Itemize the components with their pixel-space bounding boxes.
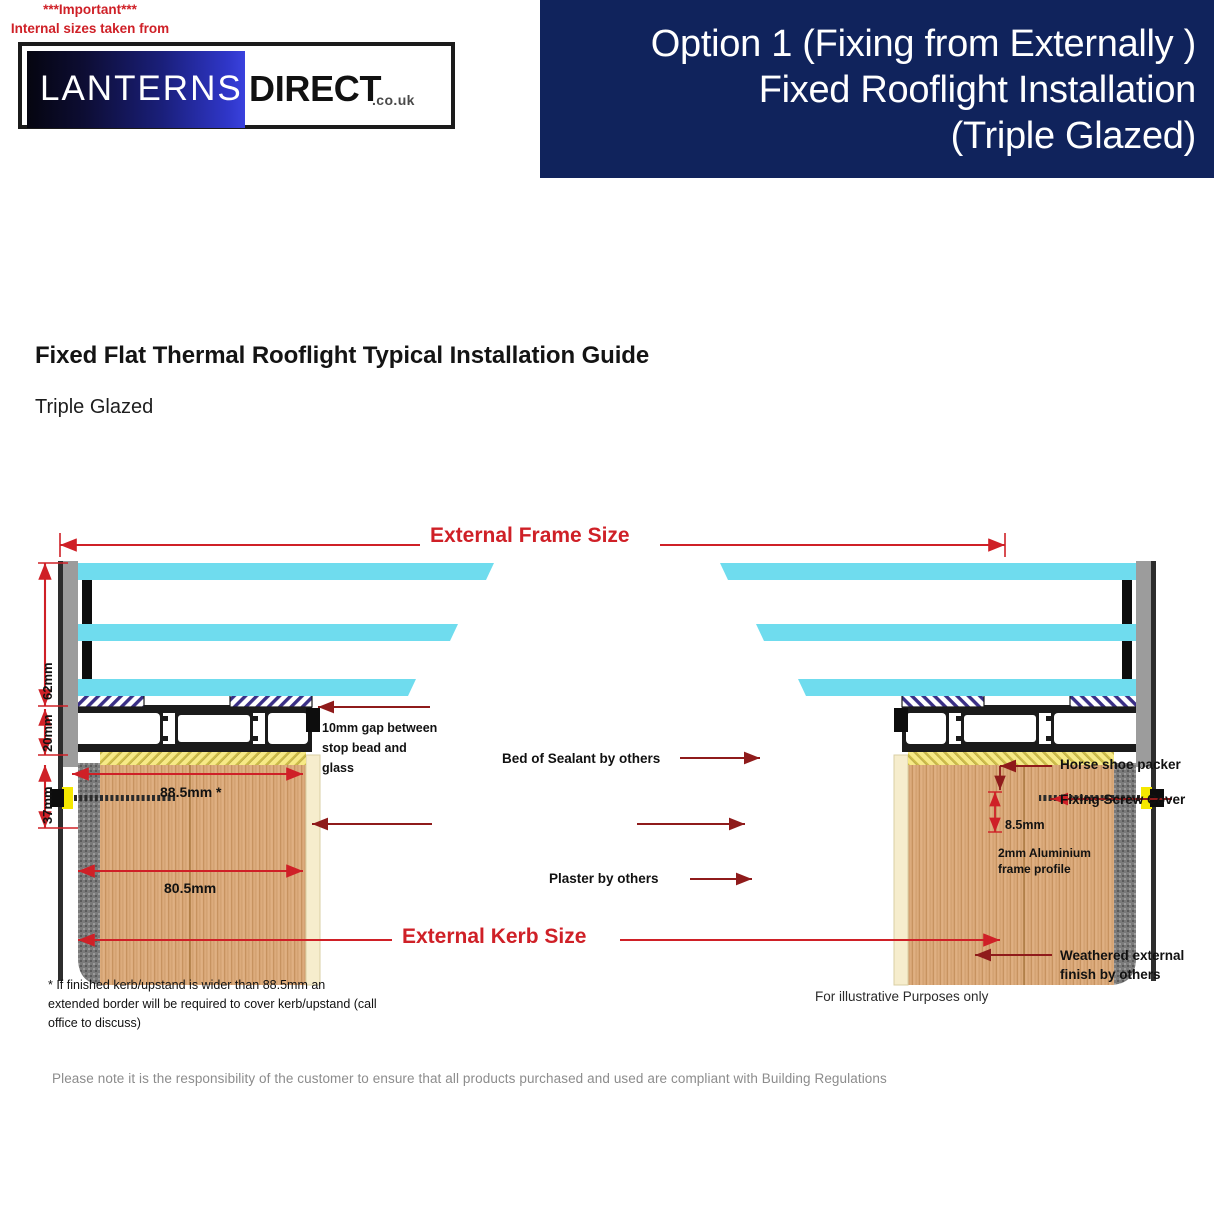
stop-bead-right bbox=[894, 708, 908, 732]
banner-lines: Option 1 (Fixing from Externally ) Fixed… bbox=[540, 21, 1214, 159]
label-fixing-screw-cover: Fixing Screw Cover bbox=[1060, 792, 1185, 807]
aluminium-frame-left bbox=[62, 705, 312, 752]
illustrative-note: For illustrative Purposes only bbox=[815, 989, 988, 1004]
weathered-finish-left bbox=[78, 763, 140, 985]
glass-pane-inner-left bbox=[78, 679, 416, 696]
label-plaster-by-others: Plaster by others bbox=[549, 871, 659, 886]
frame-head-right bbox=[900, 572, 1132, 579]
label-8-5mm: 8.5mm bbox=[1005, 818, 1045, 832]
label-37mm: 37mm bbox=[40, 786, 55, 824]
building-regulations-disclaimer: Please note it is the responsibility of … bbox=[52, 1071, 887, 1086]
frame-outer-skin-right bbox=[1136, 561, 1152, 767]
logo-inner: LANTERNS DIRECT .co.uk bbox=[27, 51, 454, 128]
dimension-lines bbox=[38, 533, 1005, 940]
frame-upright-right bbox=[1122, 572, 1132, 695]
glass-pane-outer-right bbox=[720, 563, 1136, 580]
banner-line-2: Fixed Rooflight Installation bbox=[540, 67, 1214, 113]
label-external-kerb-size: External Kerb Size bbox=[402, 925, 586, 949]
label-10mm-gap: 10mm gap between stop bead and glass bbox=[322, 718, 442, 778]
label-aluminium-frame-profile: 2mm Aluminium frame profile bbox=[998, 845, 1118, 877]
plaster-right bbox=[894, 755, 908, 985]
label-weathered-finish: Weathered external finish by others bbox=[1060, 946, 1200, 984]
aluminium-frame-right bbox=[902, 705, 1152, 752]
kerb-footnote: * If finished kerb/upstand is wider than… bbox=[48, 976, 378, 1033]
logo-text-direct: DIRECT bbox=[249, 66, 381, 112]
sealant-bed-left bbox=[100, 752, 306, 765]
label-20mm: 20mm bbox=[40, 714, 55, 752]
page-title: Fixed Flat Thermal Rooflight Typical Ins… bbox=[35, 342, 649, 370]
glass-pane-middle-left bbox=[78, 624, 458, 641]
page-subtitle: Triple Glazed bbox=[35, 396, 153, 419]
banner-line-3: (Triple Glazed) bbox=[540, 113, 1214, 159]
glass-pane-inner-right bbox=[798, 679, 1136, 696]
right-section-assembly bbox=[720, 561, 1164, 985]
label-88-5mm: 88.5mm * bbox=[160, 784, 221, 800]
label-62mm: 62mm bbox=[40, 662, 55, 700]
frame-outer-skin-left bbox=[62, 561, 78, 767]
frame-head-left bbox=[82, 572, 314, 579]
gasket-outer-right bbox=[1070, 694, 1148, 707]
gasket-inner-right bbox=[902, 694, 984, 707]
label-external-frame-size: External Frame Size bbox=[430, 524, 630, 548]
label-bed-of-sealant: Bed of Sealant by others bbox=[502, 751, 660, 766]
glass-pane-middle-right bbox=[756, 624, 1136, 641]
gasket-outer-left bbox=[66, 694, 144, 707]
logo-text-lanterns: LANTERNS bbox=[40, 67, 243, 111]
stop-bead-left bbox=[306, 708, 320, 732]
brand-logo: LANTERNS DIRECT .co.uk bbox=[18, 42, 455, 129]
page-header: LANTERNS DIRECT .co.uk Option 1 (Fixing … bbox=[0, 0, 1214, 190]
label-80-5mm: 80.5mm bbox=[164, 880, 216, 896]
frame-edge-left bbox=[58, 561, 63, 981]
plaster-left bbox=[306, 755, 320, 985]
glass-pane-outer-left bbox=[78, 563, 494, 580]
label-horse-shoe-packer: Horse shoe packer bbox=[1060, 757, 1181, 772]
gasket-inner-left bbox=[230, 694, 312, 707]
logo-text-tld: .co.uk bbox=[372, 92, 415, 108]
banner-line-1: Option 1 (Fixing from Externally ) bbox=[540, 21, 1214, 67]
horseshoe-packer-left bbox=[62, 787, 73, 809]
title-banner: Option 1 (Fixing from Externally ) Fixed… bbox=[540, 0, 1214, 178]
frame-upright-left bbox=[82, 572, 92, 695]
